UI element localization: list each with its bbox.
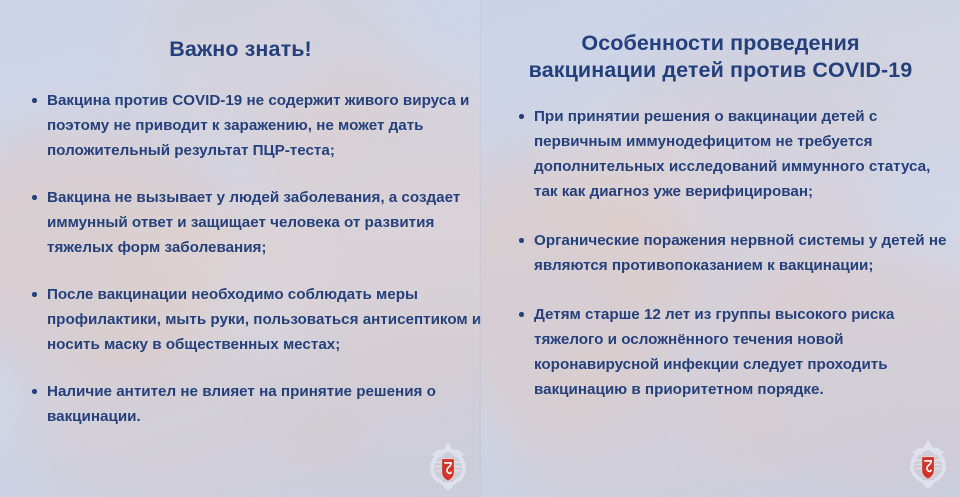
right-panel-heading-line2: вакцинации детей против COVID-19 (501, 57, 940, 84)
list-item: Органические поражения нервной системы у… (517, 228, 947, 278)
bullet-dot-icon (32, 195, 37, 200)
list-item: При принятии решения о вакцинации детей … (517, 104, 947, 204)
ministry-of-health-emblem-icon (422, 440, 474, 492)
left-panel-heading: Важно знать! (20, 36, 461, 63)
ministry-of-health-emblem-icon (902, 438, 954, 490)
list-item-text: Детям старше 12 лет из группы высокого р… (534, 306, 894, 398)
list-item-text: Вакцина не вызывает у людей заболевания,… (47, 189, 460, 256)
list-item: Вакцина против COVID-19 не содержит живо… (30, 88, 481, 163)
list-item-text: Органические поражения нервной системы у… (534, 232, 946, 274)
bullet-dot-icon (32, 389, 37, 394)
left-panel-content: Важно знать! Вакцина против COVID-19 не … (0, 0, 481, 497)
slide-root: Важно знать! Вакцина против COVID-19 не … (0, 0, 960, 497)
list-item: После вакцинации необходимо соблюдать ме… (30, 282, 481, 357)
right-panel-heading-line1: Особенности проведения (501, 30, 940, 57)
bullet-dot-icon (32, 98, 37, 103)
right-panel-heading: Особенности проведения вакцинации детей … (501, 30, 940, 83)
list-item-text: После вакцинации необходимо соблюдать ме… (47, 286, 481, 353)
list-item-text: При принятии решения о вакцинации детей … (534, 108, 930, 200)
right-panel-bullet-list: При принятии решения о вакцинации детей … (517, 104, 947, 402)
list-item-text: Наличие антител не влияет на принятие ре… (47, 383, 436, 425)
bullet-dot-icon (519, 238, 524, 243)
list-item-text: Вакцина против COVID-19 не содержит живо… (47, 92, 469, 159)
list-item: Наличие антител не влияет на принятие ре… (30, 379, 481, 429)
list-item: Вакцина не вызывает у людей заболевания,… (30, 185, 481, 260)
right-panel-content: Особенности проведения вакцинации детей … (481, 0, 960, 497)
left-panel-bullet-list: Вакцина против COVID-19 не содержит живо… (30, 88, 481, 429)
bullet-dot-icon (519, 114, 524, 119)
bullet-dot-icon (519, 312, 524, 317)
left-panel: Важно знать! Вакцина против COVID-19 не … (0, 0, 481, 497)
bullet-dot-icon (32, 292, 37, 297)
list-item: Детям старше 12 лет из группы высокого р… (517, 302, 947, 402)
right-panel: Особенности проведения вакцинации детей … (481, 0, 960, 497)
